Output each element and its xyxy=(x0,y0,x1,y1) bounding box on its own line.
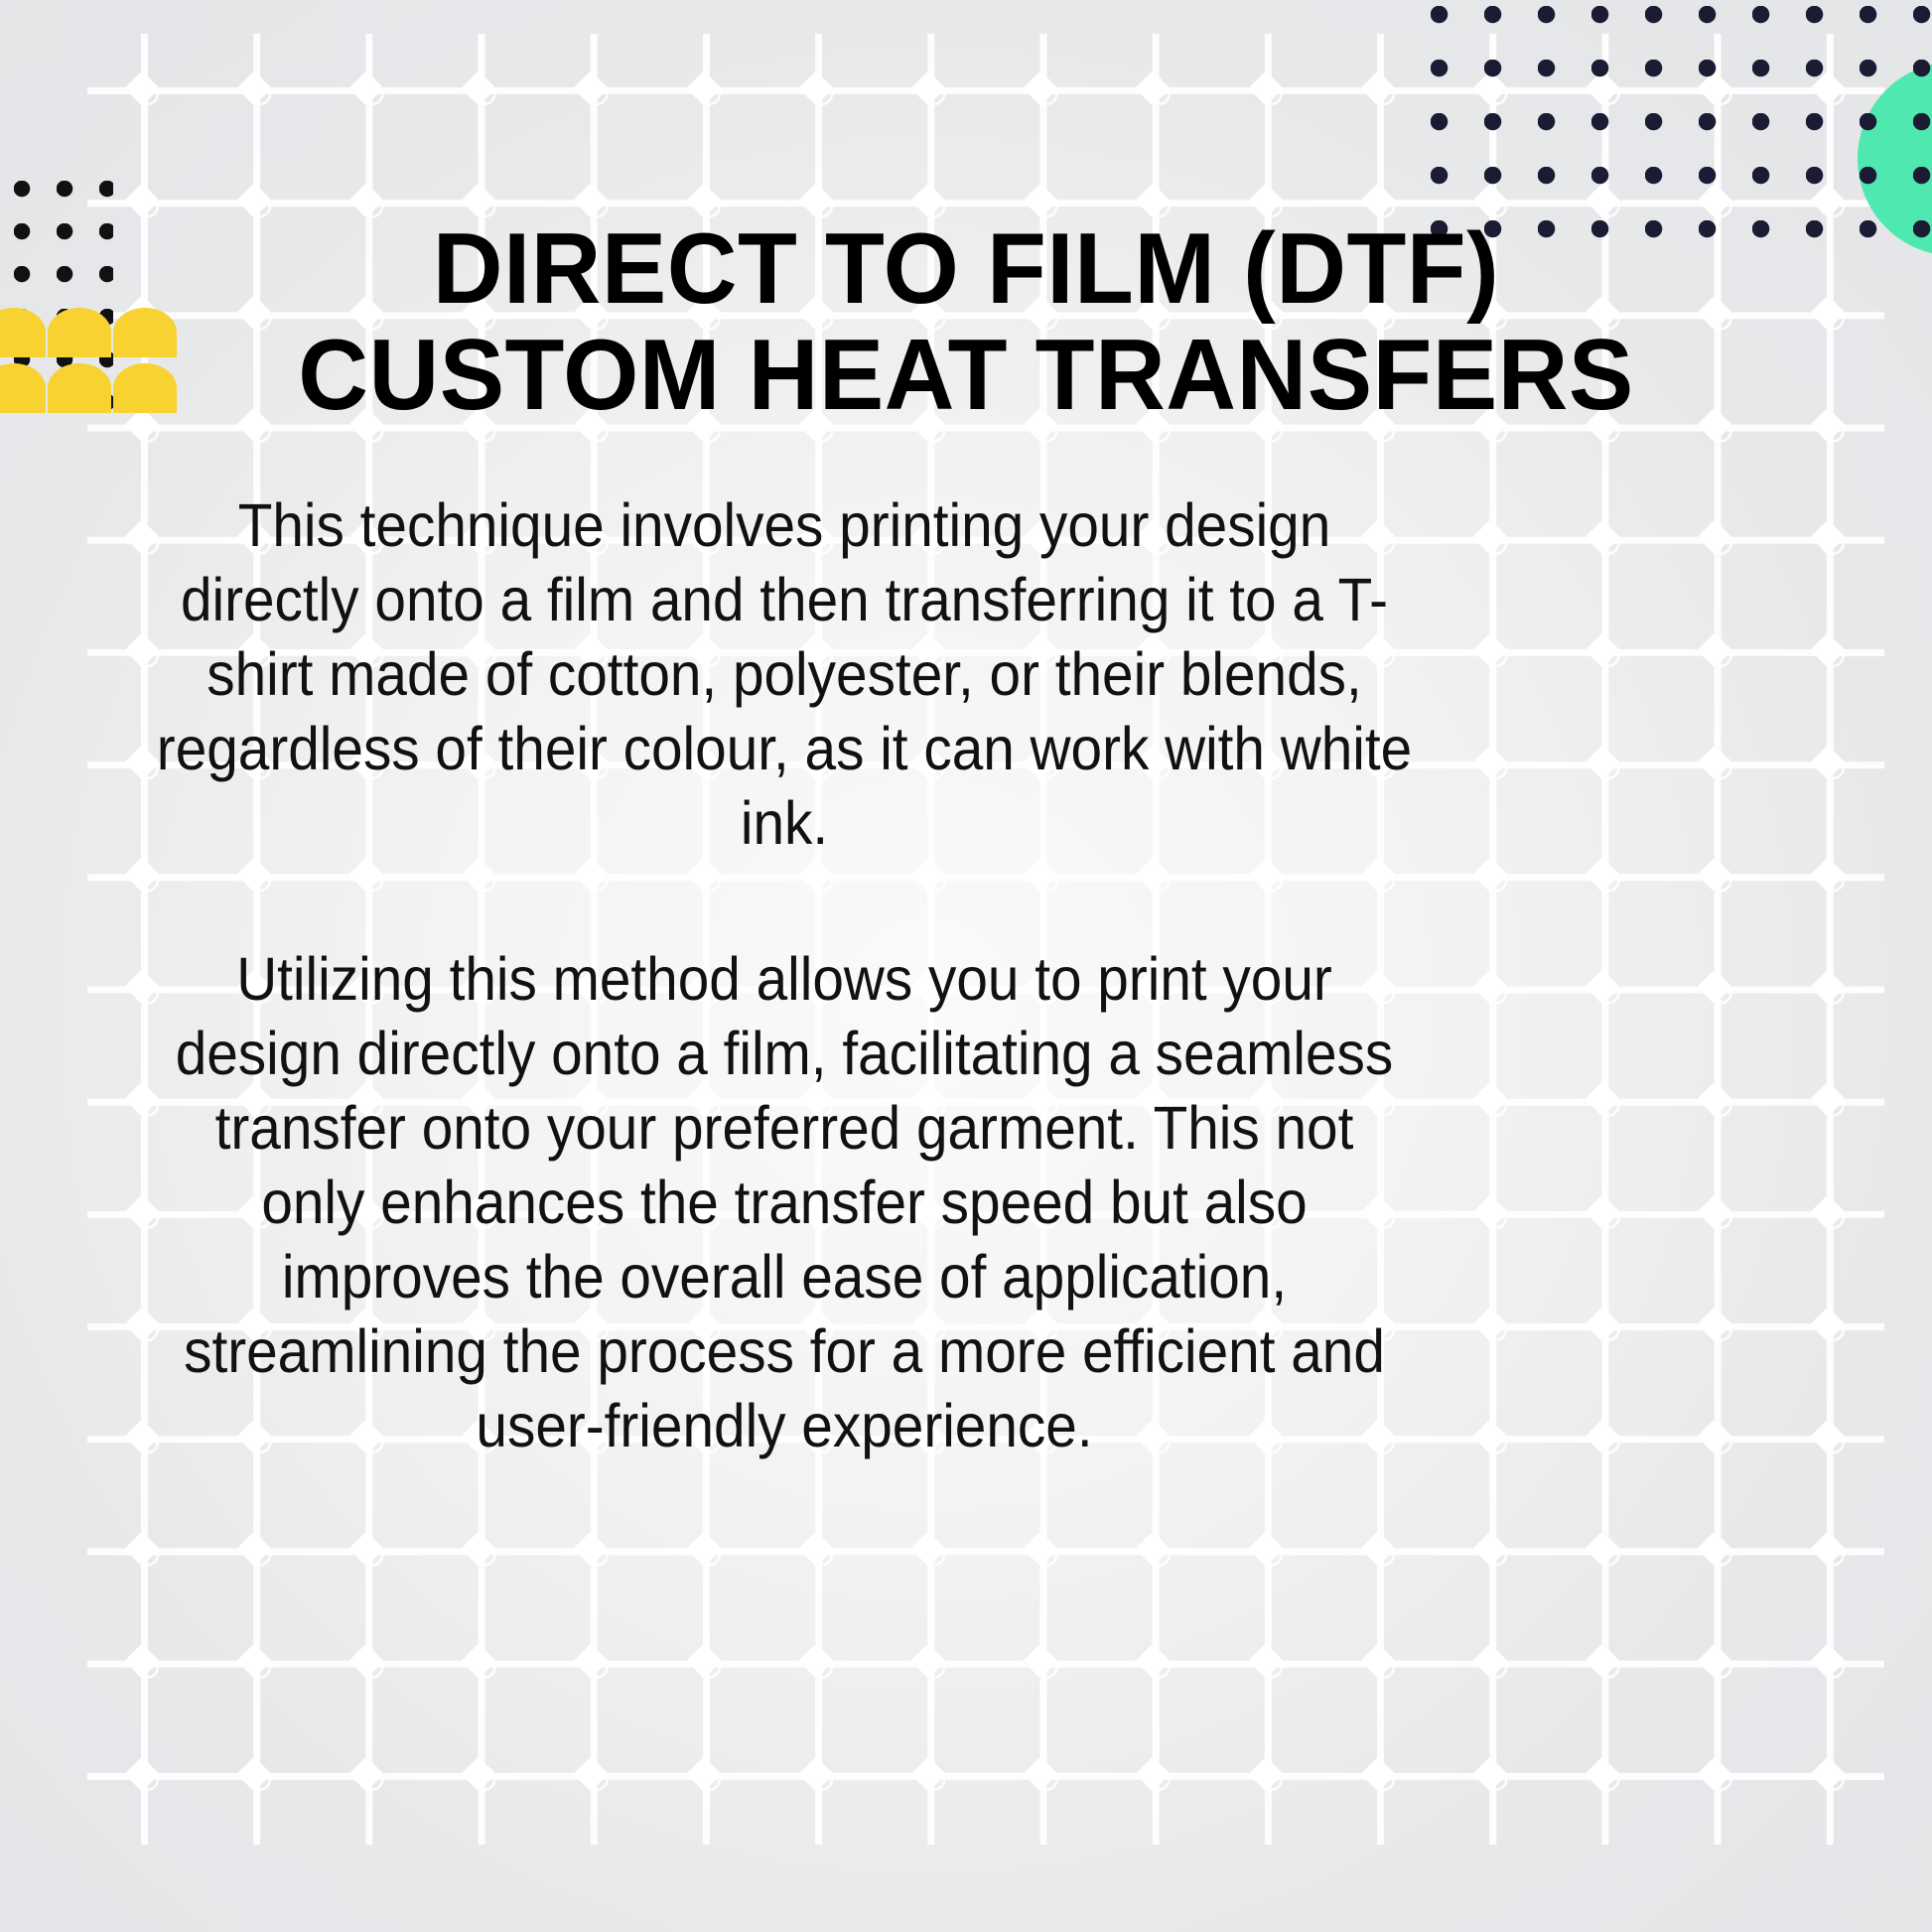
page-title-line-2: CUSTOM HEAT TRANSFERS xyxy=(193,323,1739,429)
body-copy: This technique involves printing your de… xyxy=(157,488,1413,1463)
body-paragraph-1: This technique involves printing your de… xyxy=(157,488,1413,861)
body-paragraph-2: Utilizing this method allows you to prin… xyxy=(157,942,1413,1463)
page-title: DIRECT TO FILM (DTF) CUSTOM HEAT TRANSFE… xyxy=(29,216,1903,429)
paragraph-spacer xyxy=(157,861,1413,942)
page-title-line-1: DIRECT TO FILM (DTF) xyxy=(193,216,1739,323)
poster-canvas: DIRECT TO FILM (DTF) CUSTOM HEAT TRANSFE… xyxy=(0,0,1932,1932)
